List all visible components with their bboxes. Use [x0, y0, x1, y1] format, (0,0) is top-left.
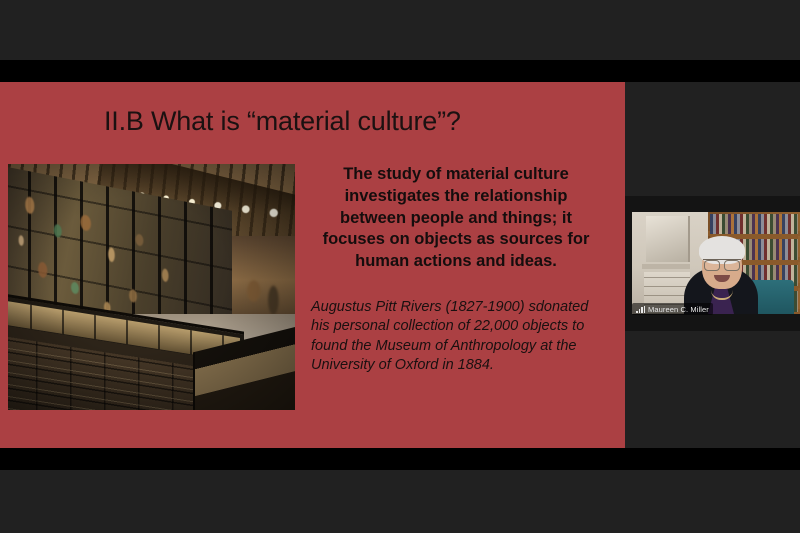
scene-alcove	[646, 216, 690, 262]
slide-citation-text: Augustus Pitt Rivers (1827-1900) sdonate…	[311, 298, 601, 375]
shared-slide: II.B What is “material culture”? The stu…	[0, 82, 625, 448]
zoom-meeting-window: II.B What is “material culture”? The stu…	[0, 0, 800, 533]
participant-name-label: Maureen C. Miller	[648, 305, 709, 314]
slide-title: II.B What is “material culture”?	[104, 106, 574, 137]
scene-shelf	[642, 264, 690, 269]
glasses-icon	[703, 259, 741, 270]
signal-strength-icon	[636, 306, 645, 313]
participant-video-tile[interactable]: Maureen C. Miller	[625, 196, 800, 331]
photo-vignette	[8, 164, 295, 410]
museum-gallery-photo	[8, 164, 295, 410]
participant-name-badge: Maureen C. Miller	[632, 303, 713, 315]
video-feed	[632, 212, 800, 314]
letterbox-band-top	[0, 60, 800, 82]
slide-body-text: The study of material culture investigat…	[310, 164, 602, 273]
letterbox-band-bottom	[0, 448, 800, 470]
